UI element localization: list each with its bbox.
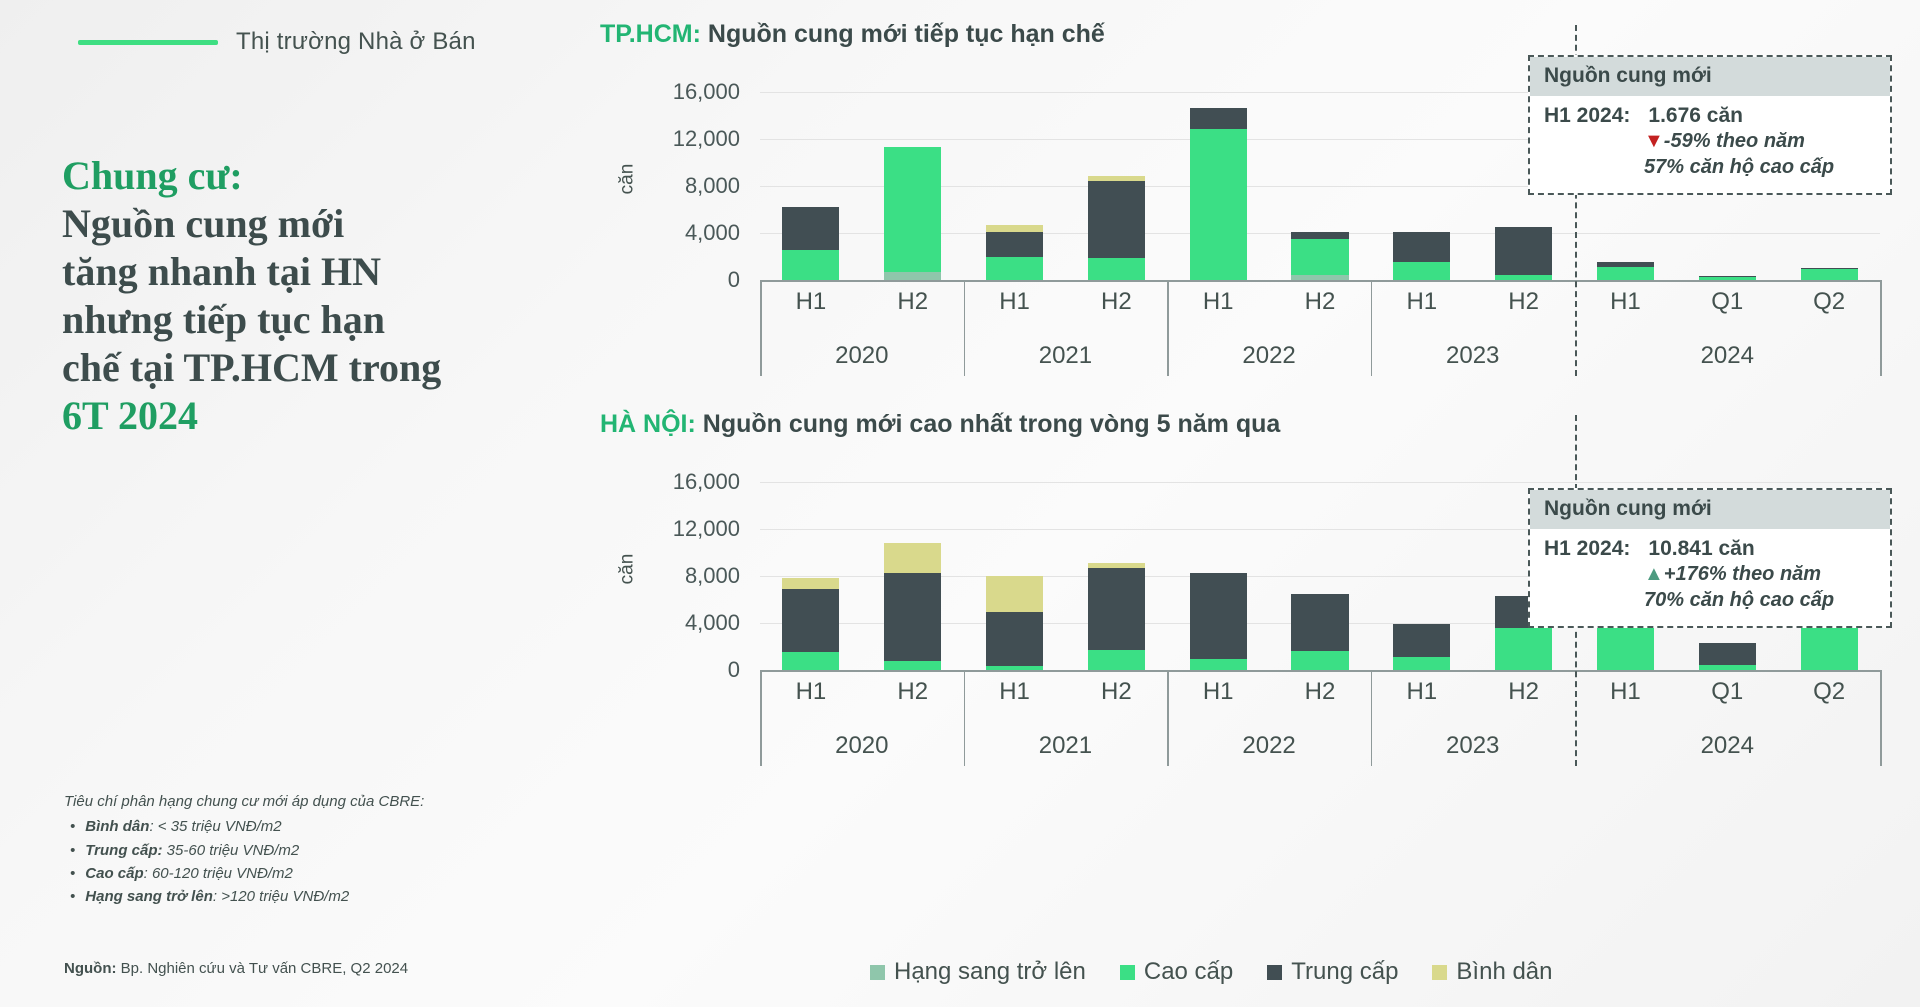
plot-hcm-bar-segment [1393,262,1450,280]
plot-hanoi-year-label: 2022 [1167,732,1371,760]
arrow-up-icon: ▲ [1644,563,1664,585]
plot-hanoi-bar-segment [884,661,941,670]
plot-hanoi-bar-segment [782,578,839,590]
plot-hanoi-ylabel: căn [616,554,638,585]
plot-hanoi-category-label: Q1 [1676,678,1778,706]
plot-hcm-bar-segment [1495,275,1552,280]
plot-hcm-bar[interactable] [1088,176,1145,280]
plot-hanoi-category-label: Q2 [1778,678,1880,706]
chart-hcm-title: TP.HCM: Nguồn cung mới tiếp tục hạn chế [600,20,1105,49]
callout-hcm-change-row: ▼-59% theo năm [1644,128,1876,154]
bullet-icon: • [70,815,75,838]
plot-hcm-category-label: H2 [1473,288,1575,316]
callout-hcm-value: 1.676 căn [1648,104,1743,128]
plot-hanoi-category-label: H1 [1575,678,1677,706]
plot-hanoi-category-label: H1 [760,678,862,706]
plot-hcm-category-label: H1 [1167,288,1269,316]
plot-hcm-bar-segment [1088,258,1145,280]
plot-hcm-bar[interactable] [1190,108,1247,280]
plot-hcm-category-label: Q2 [1778,288,1880,316]
plot-hcm-bar-segment [782,250,839,280]
plot-hcm-bar[interactable] [986,225,1043,280]
plot-hanoi-year-label: 2023 [1371,732,1575,760]
plot-hcm-bar-segment [1495,227,1552,275]
criteria-item-name: Hạng sang trở lên [85,888,213,905]
plot-hcm-bar-segment [1291,239,1348,275]
criteria-item: •Hạng sang trở lên: >120 triệu VNĐ/m2 [64,885,534,908]
legend-item[interactable]: Cao cấp [1120,958,1233,986]
plot-hanoi-category-label: H1 [1167,678,1269,706]
source-note: Nguồn: Bp. Nghiên cứu và Tư vấn CBRE, Q2… [64,960,408,977]
page-title: Chung cư: Nguồn cung mới tăng nhanh tại … [62,152,542,440]
plot-hcm-category-label: H2 [1065,288,1167,316]
plot-hanoi-bar[interactable] [782,578,839,670]
legend-label: Cao cấp [1144,958,1233,986]
chart-hcm-title-city: TP.HCM: [600,20,701,48]
plot-hcm-bar-segment [1699,277,1756,280]
legend-item[interactable]: Hạng sang trở lên [870,958,1086,986]
plot-hanoi-gridline [760,482,1880,483]
callout-hcm-header: Nguồn cung mới [1530,57,1890,96]
legend-item[interactable]: Bình dân [1432,958,1552,986]
plot-hcm-year-label: 2021 [964,342,1168,370]
criteria-item-value: : < 35 triệu VNĐ/m2 [149,818,281,835]
bullet-icon: • [70,885,75,908]
page-title-line-4: nhưng tiếp tục hạn [62,297,385,342]
legend-swatch-icon [870,965,885,980]
plot-hanoi-year-label: 2021 [964,732,1168,760]
plot-hanoi-bar-segment [1291,651,1348,670]
callout-hanoi-change: +176% theo năm [1664,563,1821,585]
criteria-item-name: Bình dân [85,818,149,835]
callout-hanoi-header: Nguồn cung mới [1530,490,1890,529]
plot-hcm-bar-segment [1190,108,1247,129]
page-title-line-1: Chung cư: [62,152,542,200]
plot-hanoi-bar-segment [1088,650,1145,670]
plot-hcm-bar-segment [1291,232,1348,239]
callout-hanoi-share: 70% căn hộ cao cấp [1644,587,1876,613]
page-title-line-3: tăng nhanh tại HN [62,249,381,294]
plot-hanoi-bar[interactable] [1291,594,1348,670]
plot-hcm-bar[interactable] [782,207,839,280]
plot-hcm-bar-segment [884,272,941,280]
plot-hcm-bar[interactable] [1495,227,1552,280]
source-text: Bp. Nghiên cứu và Tư vấn CBRE, Q2 2024 [116,960,408,977]
plot-hcm-bar-segment [884,147,941,272]
plot-hcm-axis-baseline [760,280,1880,282]
plot-hcm-category-label: H1 [760,288,862,316]
criteria-item: •Cao cấp: 60-120 triệu VNĐ/m2 [64,862,534,885]
criteria-item-name: Trung cấp: [85,842,162,859]
callout-hcm-share: 57% căn hộ cao cấp [1644,154,1876,180]
legend-item[interactable]: Trung cấp [1267,958,1398,986]
callout-hanoi-period: H1 2024: [1544,537,1630,561]
plot-hcm-bar[interactable] [884,147,941,280]
plot-hanoi-bar[interactable] [1393,624,1450,670]
criteria-title: Tiêu chí phân hạng chung cư mới áp dụng … [64,790,534,813]
plot-hanoi-bar-segment [1190,659,1247,670]
page-title-line-6: 6T 2024 [62,393,198,438]
callout-hcm-body: H1 2024: 1.676 căn ▼-59% theo năm 57% că… [1530,96,1890,193]
callout-hanoi-line-1: H1 2024: 10.841 căn [1544,537,1876,561]
plot-hcm-bar[interactable] [1393,232,1450,280]
criteria-item-value: : >120 triệu VNĐ/m2 [213,888,349,905]
plot-hanoi-year-label: 2024 [1575,732,1880,760]
plot-hanoi-category-label: H2 [1269,678,1371,706]
legend-swatch-icon [1120,965,1135,980]
criteria-note: Tiêu chí phân hạng chung cư mới áp dụng … [64,790,534,908]
callout-hcm-line-1: H1 2024: 1.676 căn [1544,104,1876,128]
plot-hcm-bar-segment [986,257,1043,280]
plot-hanoi-bar-segment [1190,573,1247,659]
plot-hcm-bar-segment [1393,232,1450,261]
plot-hanoi-bar-segment [986,612,1043,666]
chart-hanoi-title-city: HÀ NỘI: [600,410,696,438]
plot-hanoi-bar[interactable] [1699,643,1756,670]
plot-hcm-ytick-label: 0 [728,267,740,293]
criteria-item-value: : 60-120 triệu VNĐ/m2 [144,865,293,882]
plot-hcm-year-label: 2023 [1371,342,1575,370]
callout-hcm-change: -59% theo năm [1664,130,1805,152]
plot-hanoi-bar-segment [884,573,941,661]
plot-hanoi-bar-segment [884,543,941,573]
criteria-item-value: 35-60 triệu VNĐ/m2 [163,842,300,859]
plot-hanoi-bar[interactable] [1088,563,1145,670]
plot-hanoi-category-label: H2 [1065,678,1167,706]
chart-hanoi-title-rest: Nguồn cung mới cao nhất trong vòng 5 năm… [696,410,1280,438]
plot-hanoi-ytick-label: 0 [728,657,740,683]
callout-hcm-period: H1 2024: [1544,104,1630,128]
legend-label: Bình dân [1456,958,1552,986]
source-label: Nguồn: [64,960,116,977]
criteria-list: •Bình dân: < 35 triệu VNĐ/m2 •Trung cấp:… [64,815,534,908]
plot-hcm-bar-segment [1190,129,1247,280]
bullet-icon: • [70,862,75,885]
plot-hanoi-category-label: H1 [1371,678,1473,706]
plot-hcm-bar-segment [1801,269,1858,280]
plot-hcm-year-label: 2020 [760,342,964,370]
plot-hcm-ylabel: căn [616,164,638,195]
plot-hanoi-bar-segment [1495,628,1552,670]
plot-hanoi-bar[interactable] [884,543,941,670]
plot-hanoi-category-label: H2 [1473,678,1575,706]
plot-hanoi-year-label: 2020 [760,732,964,760]
plot-hcm-bar-segment [1088,181,1145,257]
plot-hcm-bar-segment [986,225,1043,232]
plot-hanoi-bar[interactable] [1190,573,1247,670]
callout-hcm: Nguồn cung mới H1 2024: 1.676 căn ▼-59% … [1528,55,1892,195]
plot-hcm-category-label: H2 [862,288,964,316]
plot-hanoi-bar-segment [986,666,1043,670]
plot-hcm-axis-right-tick [1880,280,1882,376]
page-title-line-2: Nguồn cung mới [62,201,344,246]
plot-hanoi-ytick-label: 12,000 [673,516,740,542]
plot-hanoi-ytick-label: 16,000 [673,469,740,495]
plot-hcm-bar[interactable] [1801,268,1858,280]
plot-hcm-category-label: Q1 [1676,288,1778,316]
criteria-item-name: Cao cấp [85,865,143,882]
plot-hanoi-ytick-label: 4,000 [685,610,740,636]
brand-label: Thị trường Nhà ở Bán [236,28,476,56]
plot-hanoi-bar-segment [782,652,839,670]
plot-hanoi-bar-segment [986,576,1043,612]
legend-swatch-icon [1267,965,1282,980]
chart-hcm-title-rest: Nguồn cung mới tiếp tục hạn chế [701,20,1105,48]
legend-label: Trung cấp [1291,958,1398,986]
callout-hanoi-change-row: ▲+176% theo năm [1644,561,1876,587]
plot-hcm-year-label: 2022 [1167,342,1371,370]
plot-hanoi-bar-segment [1088,568,1145,650]
plot-hanoi-axis-right-tick [1880,670,1882,766]
plot-hanoi-axis-baseline [760,670,1880,672]
plot-hcm-bar-segment [1597,267,1654,280]
page-title-line-5: chế tại TP.HCM trong [62,345,441,390]
plot-hcm-category-label: H1 [1575,288,1677,316]
plot-hanoi-bar-segment [1291,594,1348,651]
plot-hcm-ytick-label: 4,000 [685,220,740,246]
plot-hcm-year-label: 2024 [1575,342,1880,370]
plot-hcm-ytick-label: 8,000 [685,173,740,199]
callout-hanoi-body: H1 2024: 10.841 căn ▲+176% theo năm 70% … [1530,529,1890,626]
callout-hanoi: Nguồn cung mới H1 2024: 10.841 căn ▲+176… [1528,488,1892,628]
brand-rule-icon [78,40,218,45]
legend-swatch-icon [1432,965,1447,980]
plot-hcm-bar[interactable] [1699,276,1756,280]
plot-hcm-ytick-label: 12,000 [673,126,740,152]
plot-hanoi-bar[interactable] [986,576,1043,670]
plot-hanoi-bar-segment [782,589,839,652]
criteria-item: •Trung cấp: 35-60 triệu VNĐ/m2 [64,839,534,862]
infographic-page: Thị trường Nhà ở Bán Chung cư: Nguồn cun… [0,0,1920,1007]
plot-hanoi-bar-segment [1699,665,1756,670]
arrow-down-icon: ▼ [1644,130,1664,152]
plot-hanoi-category-label: H1 [964,678,1066,706]
legend-label: Hạng sang trở lên [894,958,1086,986]
chart-legend: Hạng sang trở lênCao cấpTrung cấpBình dâ… [870,958,1553,986]
plot-hanoi-bar-segment [1699,643,1756,665]
left-panel: Thị trường Nhà ở Bán Chung cư: Nguồn cun… [0,0,560,1007]
bullet-icon: • [70,839,75,862]
plot-hanoi-category-label: H2 [862,678,964,706]
brand-row: Thị trường Nhà ở Bán [78,28,476,56]
plot-hcm-bar-segment [986,232,1043,257]
plot-hanoi-bar-segment [1393,624,1450,658]
callout-hanoi-value: 10.841 căn [1648,537,1754,561]
plot-hcm-ytick-label: 16,000 [673,79,740,105]
plot-hanoi-ytick-label: 8,000 [685,563,740,589]
plot-hcm-bar[interactable] [1597,262,1654,280]
plot-hcm-bar-segment [782,207,839,250]
plot-hcm-bar-segment [1291,275,1348,280]
plot-hanoi-bar-segment [1393,657,1450,670]
criteria-item: •Bình dân: < 35 triệu VNĐ/m2 [64,815,534,838]
plot-hcm-category-label: H1 [964,288,1066,316]
plot-hcm-category-label: H2 [1269,288,1371,316]
plot-hcm-bar[interactable] [1291,232,1348,280]
plot-hcm-category-label: H1 [1371,288,1473,316]
chart-hanoi-title: HÀ NỘI: Nguồn cung mới cao nhất trong vò… [600,410,1280,439]
